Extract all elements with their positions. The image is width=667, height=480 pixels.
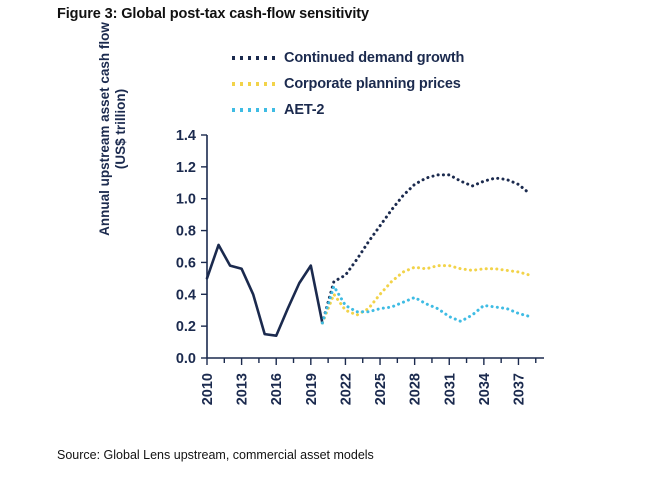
x-tick-label: 2022 (338, 373, 354, 405)
x-tick-label: 2025 (373, 373, 389, 405)
y-axis-ticks: 0.00.20.40.60.81.01.21.4 (176, 128, 207, 367)
y-tick-label: 0.2 (176, 319, 196, 335)
data-series-layer (207, 175, 530, 336)
y-tick-label: 0.0 (176, 351, 196, 367)
x-axis-ticks: 2010201320162019202220252028203120342037 (200, 358, 536, 405)
series-line-corporate-planning-prices (322, 266, 530, 323)
x-tick-label: 2028 (408, 373, 424, 405)
figure-source: Source: Global Lens upstream, commercial… (57, 448, 374, 462)
x-tick-label: 2010 (200, 373, 216, 405)
series-line-aet-2 (322, 286, 530, 323)
x-tick-label: 2013 (235, 373, 251, 405)
y-tick-label: 1.0 (176, 192, 196, 208)
x-tick-label: 2031 (442, 373, 458, 405)
figure-container: Figure 3: Global post-tax cash-flow sens… (0, 0, 667, 480)
axis-lines (207, 135, 544, 358)
y-tick-label: 0.8 (176, 224, 196, 240)
x-tick-label: 2019 (304, 373, 320, 405)
y-tick-label: 0.6 (176, 255, 196, 271)
x-tick-label: 2037 (511, 373, 527, 405)
chart-plot-area: 0.00.20.40.60.81.01.21.4 201020132016201… (0, 0, 667, 480)
y-tick-label: 1.2 (176, 160, 196, 176)
x-tick-label: 2016 (269, 373, 285, 405)
series-line-continued-demand-growth (322, 175, 530, 323)
x-tick-label: 2034 (477, 373, 493, 405)
y-tick-label: 0.4 (176, 287, 196, 303)
series-line-historical (207, 245, 322, 336)
y-tick-label: 1.4 (176, 128, 196, 144)
